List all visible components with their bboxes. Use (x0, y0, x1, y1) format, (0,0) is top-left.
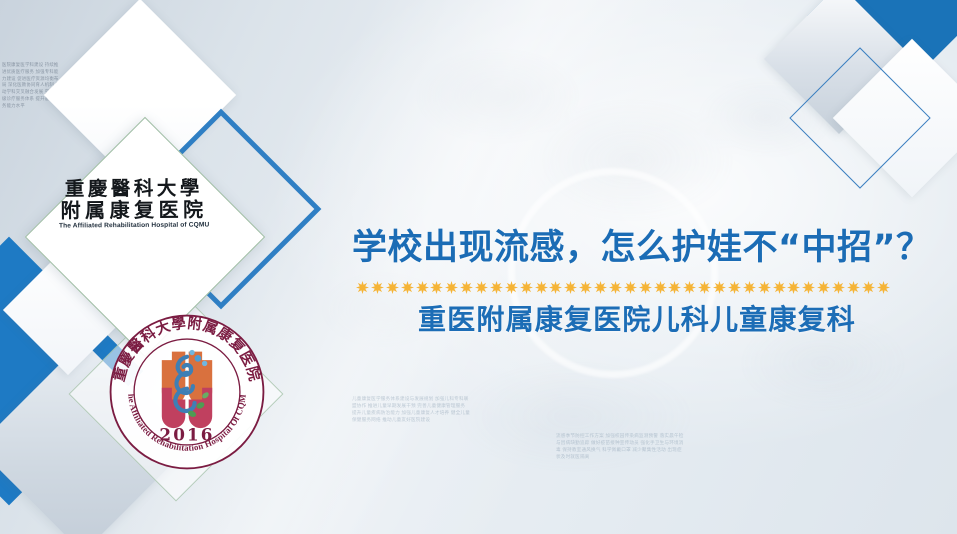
divider-star-icon (609, 281, 622, 294)
divider-star-icon (698, 281, 711, 294)
seal-year: 2016 (159, 425, 214, 445)
divider-star-icon (683, 281, 696, 294)
divider-star-icon (505, 281, 518, 294)
background-microtext-middle: 儿童康复医学服务体系建设与发展规划 加强儿科专科联盟协作 推进儿童早期发展干预 … (352, 395, 470, 515)
divider-star-icon (594, 281, 607, 294)
divider-star-icon (371, 281, 384, 294)
divider-star-icon (564, 281, 577, 294)
presentation-slide: 医院康复医学科建设 持续推进优质医疗服务 加强专科能力建设 促进医疗资源均衡布局… (0, 0, 957, 534)
hospital-seal-emblem: 重慶醫科大學附属康复医院 The Affiliated Rehabilitati… (103, 308, 271, 476)
divider-star-icon (520, 281, 533, 294)
hospital-logo: 重慶醫科大學 附属康复医院 The Affiliated Rehabilitat… (44, 177, 224, 230)
divider-star-icon (877, 281, 890, 294)
divider-star-icon (713, 281, 726, 294)
logo-chinese-line-2: 附属康复医院 (44, 198, 224, 222)
divider-star-icon (549, 281, 562, 294)
divider-star-icon (668, 281, 681, 294)
divider-star-icon (535, 281, 548, 294)
divider-star-icon (416, 281, 429, 294)
divider-star-icon (817, 281, 830, 294)
divider-star-icon (386, 281, 399, 294)
divider-star-icon (460, 281, 473, 294)
divider-star-icon (802, 281, 815, 294)
divider-star-icon (579, 281, 592, 294)
divider-star-icon (401, 281, 414, 294)
star-divider (356, 279, 890, 295)
slide-title: 学校出现流感，怎么护娃不“中招”？ (352, 228, 922, 269)
divider-star-icon (654, 281, 667, 294)
divider-star-icon (832, 281, 845, 294)
slide-subtitle: 重医附属康复医院儿科儿童康复科 (352, 303, 922, 337)
divider-star-icon (430, 281, 443, 294)
background-microtext-right: 流感季节防控工作方案 加强校园传染病监测预警 落实晨午检与因病缺勤追踪 做好疫苗… (556, 432, 684, 527)
divider-star-icon (445, 281, 458, 294)
divider-star-icon (787, 281, 800, 294)
divider-star-icon (743, 281, 756, 294)
divider-star-icon (847, 281, 860, 294)
divider-star-icon (728, 281, 741, 294)
divider-star-icon (624, 281, 637, 294)
divider-star-icon (639, 281, 652, 294)
divider-star-icon (356, 281, 369, 294)
headline-block: 学校出现流感，怎么护娃不“中招”？ 重医附属康复医院儿科儿童康复科 (352, 228, 922, 337)
divider-star-icon (862, 281, 875, 294)
divider-star-icon (490, 281, 503, 294)
divider-star-icon (773, 281, 786, 294)
logo-english-name: The Affiliated Rehabilitation Hospital o… (44, 222, 224, 230)
logo-chinese-line-1: 重慶醫科大學 (44, 177, 224, 199)
divider-star-icon (475, 281, 488, 294)
divider-star-icon (758, 281, 771, 294)
